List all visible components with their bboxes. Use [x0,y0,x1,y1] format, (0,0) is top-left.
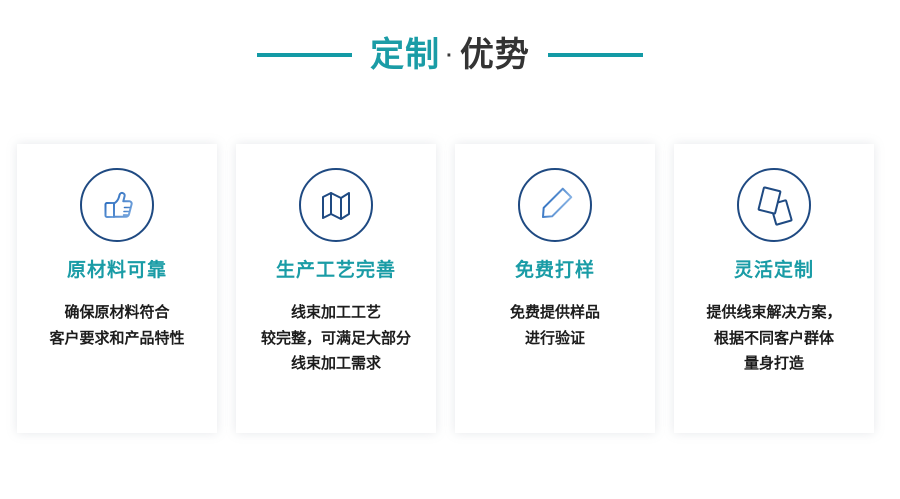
pencil-icon [516,166,594,244]
feature-card-title: 原材料可靠 [67,260,167,283]
feature-card[interactable]: 原材料可靠 确保原材料符合 客户要求和产品特性 [17,144,217,433]
feature-card-list: 原材料可靠 确保原材料符合 客户要求和产品特性 生产工艺完善 线束加工工艺 较完… [17,144,883,433]
feature-card-body: 免费提供样品 进行验证 [502,300,608,352]
feature-card[interactable]: 生产工艺完善 线束加工工艺 较完整，可满足大部分 线束加工需求 [236,144,436,433]
feature-card-body: 线束加工工艺 较完整，可满足大部分 线束加工需求 [253,300,419,377]
feature-card-title: 生产工艺完善 [276,260,396,283]
feature-card-body: 确保原材料符合 客户要求和产品特性 [41,300,192,352]
page-title-separator: · [440,46,460,66]
thumbs-up-icon [78,166,156,244]
feature-card-title: 免费打样 [515,260,595,283]
feature-card[interactable]: 免费打样 免费提供样品 进行验证 [455,144,655,433]
section-header: 定制 · 优势 [0,26,900,84]
page-title-accent: 定制 [370,38,440,72]
folded-map-icon [297,166,375,244]
header-rule-left [257,53,352,57]
stacked-cards-icon [735,166,813,244]
feature-card-body: 提供线束解决方案， 根据不同客户群体 量身打造 [698,300,849,377]
page-title: 定制 · 优势 [370,38,530,72]
header-rule-right [548,53,643,57]
feature-card[interactable]: 灵活定制 提供线束解决方案， 根据不同客户群体 量身打造 [674,144,874,433]
page-title-plain: 优势 [460,38,530,72]
feature-card-title: 灵活定制 [734,260,814,283]
